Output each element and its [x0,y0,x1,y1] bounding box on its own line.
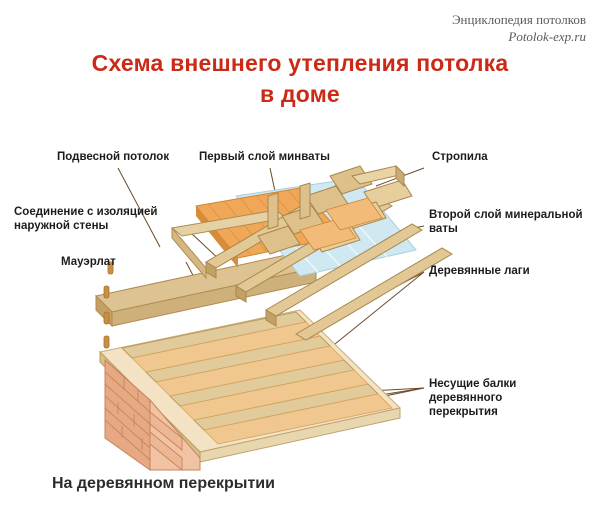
diagram-canvas: Энциклопедия потолков Potolok-exp.ru Схе… [0,0,600,528]
label-bearing-beams: Несущие балки деревянного перекрытия [429,377,569,419]
label-mauerlat: Мауэрлат [61,255,171,269]
label-wall-insulation-joint: Соединение с изоляцией наружной стены [14,205,174,233]
diagram-caption: На деревянном перекрытии [52,475,275,493]
label-suspended-ceiling: Подвесной потолок [57,150,187,164]
label-wooden-joists: Деревянные лаги [429,264,579,278]
label-first-insulation-layer: Первый слой минваты [199,150,349,164]
label-second-insulation-layer: Второй слой минеральной ваты [429,208,589,236]
label-rafters: Стропила [432,150,522,164]
